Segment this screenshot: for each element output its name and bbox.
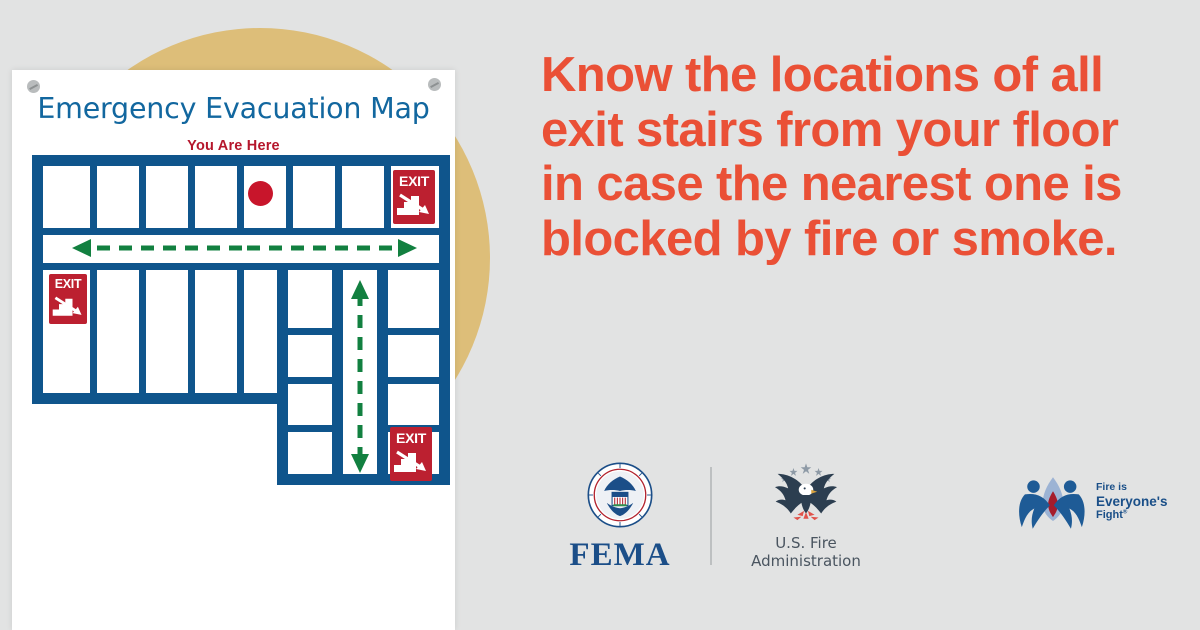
fief-line-3: Fight®	[1096, 509, 1168, 521]
exit-sign-label: EXIT	[399, 174, 429, 188]
evacuation-map-poster: Emergency Evacuation Map You Are Here	[12, 70, 455, 630]
fema-logo: FEMA	[546, 462, 694, 574]
poster-canvas: Emergency Evacuation Map You Are Here	[0, 0, 1200, 600]
stairs-arrow-icon	[391, 445, 431, 475]
fief-people-flame-icon	[1014, 474, 1092, 532]
wall-inner-col-divider-2	[283, 377, 337, 384]
screw-icon-top-right	[428, 78, 441, 91]
exit-sign-label: EXIT	[55, 278, 82, 291]
wall-top-partition-7	[384, 166, 391, 228]
wall-top-partition-3	[188, 166, 195, 228]
logo-strip: FEMA	[536, 462, 1176, 582]
headline-line-4: blocked by fire or smoke.	[541, 212, 1167, 267]
fief-line-2: Everyone's	[1096, 494, 1168, 509]
exit-sign-mid-left: EXIT	[49, 274, 87, 324]
wall-left-wing-bottom	[32, 393, 288, 404]
fief-line-3-text: Fight	[1096, 509, 1123, 521]
headline-line-1: Know the locations of all	[541, 48, 1167, 103]
headline-line-3: in case the nearest one is	[541, 157, 1167, 212]
logo-divider	[710, 467, 712, 565]
corridor-vertical-arrow-up	[346, 274, 374, 374]
you-are-here-marker	[248, 181, 273, 206]
corridor-vertical-arrow-down	[346, 379, 374, 479]
fief-line-1: Fire is	[1096, 482, 1168, 494]
fief-trademark: ®	[1123, 509, 1127, 515]
usfa-name: U.S. Fire Administration	[726, 534, 886, 571]
corridor-right-arrow	[245, 234, 425, 262]
wall-outer-right	[439, 155, 450, 485]
wall-inner-col-divider-3	[283, 425, 337, 432]
wall-mid-partition-3	[188, 270, 195, 393]
wall-mid-partition-1	[90, 270, 97, 393]
wall-lower-wing-left	[277, 393, 288, 485]
corridor-left-arrow	[64, 234, 244, 262]
exit-sign-top-right: EXIT	[393, 170, 435, 224]
usfa-name-line-2: Administration	[726, 552, 886, 570]
dhs-seal-icon	[587, 462, 653, 528]
wall-right-col-divider-2	[384, 377, 443, 384]
wall-inner-col-divider-1	[283, 328, 337, 335]
usfa-eagle-icon	[769, 462, 843, 528]
wall-top-partition-1	[90, 166, 97, 228]
fire-is-everyones-fight-logo: Fire is Everyone's Fight®	[1014, 474, 1174, 536]
usfa-name-line-1: U.S. Fire	[726, 534, 886, 552]
wall-top-partition-5	[286, 166, 293, 228]
fief-wordmark: Fire is Everyone's Fight®	[1096, 482, 1168, 521]
wall-right-col-divider-1	[384, 328, 443, 335]
floor-plan: EXIT EXIT EXIT	[32, 155, 450, 485]
you-are-here-label: You Are Here	[12, 138, 455, 154]
fema-wordmark: FEMA	[546, 537, 694, 574]
wall-corridor-bottom	[43, 263, 439, 270]
exit-sign-bottom-right: EXIT	[390, 427, 432, 481]
wall-outer-top	[32, 155, 450, 166]
wall-top-partition-6	[335, 166, 342, 228]
wall-top-partition-4	[237, 166, 244, 228]
exit-sign-label: EXIT	[396, 431, 426, 445]
stairs-arrow-icon	[394, 188, 434, 218]
headline-line-2: exit stairs from your floor	[541, 103, 1167, 158]
poster-title: Emergency Evacuation Map	[12, 92, 455, 125]
stairs-arrow-icon	[50, 291, 86, 319]
wall-mid-partition-2	[139, 270, 146, 393]
usfa-logo: U.S. Fire Administration	[726, 462, 886, 571]
headline: Know the locations of all exit stairs fr…	[541, 48, 1167, 267]
wall-mid-partition-4	[237, 270, 244, 393]
wall-top-partition-2	[139, 166, 146, 228]
wall-outer-left	[32, 155, 43, 404]
